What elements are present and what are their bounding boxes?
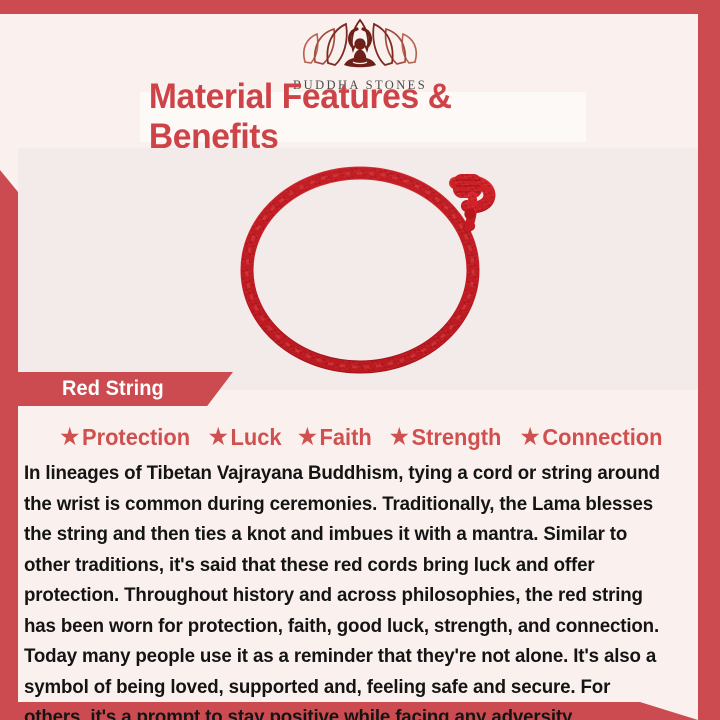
features-row: ★ Protection ★ Luck ★ Faith ★ Strength ★… xyxy=(20,418,704,456)
description-paragraph: In lineages of Tibetan Vajrayana Buddhis… xyxy=(24,458,671,720)
product-label-text: Red String xyxy=(62,372,164,406)
feature-label: Luck xyxy=(230,424,281,451)
lotus-meditation-figure-icon xyxy=(0,18,720,76)
infographic-card: BUDDHA STONES Material Features & Benefi… xyxy=(0,0,720,720)
frame-top-bar xyxy=(0,0,720,14)
feature-label: Connection xyxy=(543,424,663,451)
star-icon: ★ xyxy=(298,424,317,450)
star-icon: ★ xyxy=(390,424,409,450)
feature-luck: ★ Luck xyxy=(209,424,282,451)
product-image-red-string-bracelet xyxy=(0,148,720,393)
page-title: Material Features & Benefits xyxy=(149,92,577,142)
star-icon: ★ xyxy=(521,424,540,450)
feature-label: Strength xyxy=(412,424,502,451)
star-icon: ★ xyxy=(209,424,228,450)
feature-strength: ★ Strength xyxy=(390,424,501,451)
feature-label: Protection xyxy=(82,424,190,451)
feature-protection: ★ Protection xyxy=(61,424,191,451)
feature-label: Faith xyxy=(320,424,372,451)
feature-faith: ★ Faith xyxy=(298,424,372,451)
star-icon: ★ xyxy=(61,424,80,450)
feature-connection: ★ Connection xyxy=(521,424,663,451)
